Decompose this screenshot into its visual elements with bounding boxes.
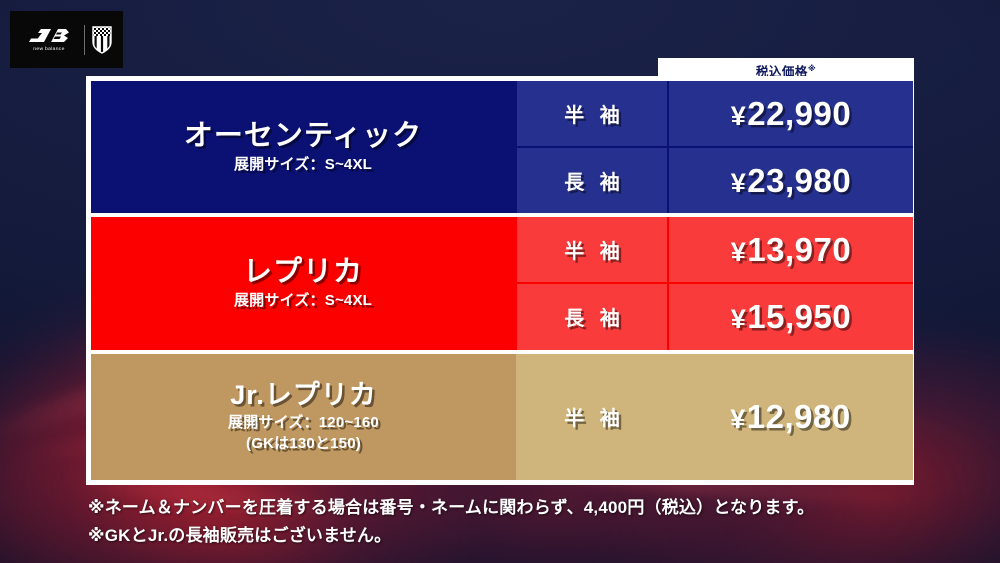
table-row: オーセンティック 展開サイズ：S~4XL 半 袖 ¥22,990 (91, 81, 913, 147)
yen-symbol: ¥ (731, 101, 747, 131)
yen-symbol: ¥ (731, 304, 747, 334)
sleeve-label: 長 袖 (559, 172, 625, 194)
yen-symbol: ¥ (730, 404, 746, 434)
price-cell: ¥13,970 (668, 217, 913, 283)
price-value: ¥22,990 (731, 95, 851, 132)
logo-divider (84, 25, 85, 55)
price-value: ¥13,970 (731, 231, 851, 268)
product-sizes: 展開サイズ：S~4XL (91, 156, 515, 175)
club-crest-icon (92, 26, 112, 54)
product-name: オーセンティック (91, 120, 515, 153)
brand-logo-lockup: new balance (10, 11, 123, 68)
yen-symbol: ¥ (731, 168, 747, 198)
table-row: Jr.レプリカ 展開サイズ：120~160 (GKは130と150) 半 袖 ¥… (91, 354, 913, 480)
sleeve-cell: 半 袖 (516, 354, 668, 480)
product-name-cell-replica: レプリカ 展開サイズ：S~4XL (91, 217, 516, 349)
product-sizes-note: (GKは130と150) (91, 435, 516, 454)
price-cell: ¥15,950 (668, 283, 913, 349)
price-number: 15,950 (747, 298, 851, 335)
price-number: 22,990 (747, 95, 851, 132)
product-name-cell-authentic: オーセンティック 展開サイズ：S~4XL (91, 81, 516, 213)
price-cell: ¥22,990 (668, 81, 913, 147)
price-cell: ¥23,980 (668, 147, 913, 213)
footnote-item: ※GKとJr.の長袖販売はございません。 (88, 525, 928, 548)
sleeve-cell: 長 袖 (516, 147, 668, 213)
sleeve-cell: 長 袖 (516, 283, 668, 349)
product-sizes: 展開サイズ：120~160 (91, 414, 516, 433)
table-row: レプリカ 展開サイズ：S~4XL 半 袖 ¥13,970 (91, 217, 913, 283)
price-cell: ¥12,980 (668, 354, 913, 480)
sleeve-cell: 半 袖 (516, 217, 668, 283)
new-balance-logo: new balance (21, 27, 77, 52)
product-name-cell-jr-replica: Jr.レプリカ 展開サイズ：120~160 (GKは130と150) (91, 354, 516, 480)
new-balance-wordmark: new balance (33, 46, 64, 52)
sleeve-cell: 半 袖 (516, 81, 668, 147)
price-number: 13,970 (747, 231, 851, 268)
price-value: ¥12,980 (730, 398, 850, 435)
sleeve-label: 半 袖 (559, 241, 625, 263)
footnotes: ※ネーム＆ナンバーを圧着する場合は番号・ネームに関わらず、4,400円（税込）と… (88, 497, 928, 553)
yen-symbol: ¥ (731, 237, 747, 267)
sleeve-label: 半 袖 (559, 408, 625, 430)
tax-header-asterisk: ※ (808, 63, 816, 72)
product-name: レプリカ (91, 256, 515, 289)
price-table: オーセンティック 展開サイズ：S~4XL 半 袖 ¥22,990 長 袖 ¥23… (91, 81, 913, 480)
price-number: 12,980 (747, 398, 851, 435)
product-name: Jr.レプリカ (91, 380, 516, 411)
club-crest-logo (92, 26, 112, 54)
new-balance-flying-nb-icon (29, 27, 69, 44)
price-number: 23,980 (747, 162, 851, 199)
price-value: ¥15,950 (731, 298, 851, 335)
price-value: ¥23,980 (731, 162, 851, 199)
sleeve-label: 長 袖 (559, 308, 625, 330)
sleeve-label: 半 袖 (559, 105, 625, 127)
product-sizes: 展開サイズ：S~4XL (91, 292, 515, 311)
footnote-item: ※ネーム＆ナンバーを圧着する場合は番号・ネームに関わらず、4,400円（税込）と… (88, 497, 928, 520)
price-table-frame: オーセンティック 展開サイズ：S~4XL 半 袖 ¥22,990 長 袖 ¥23… (86, 76, 914, 485)
